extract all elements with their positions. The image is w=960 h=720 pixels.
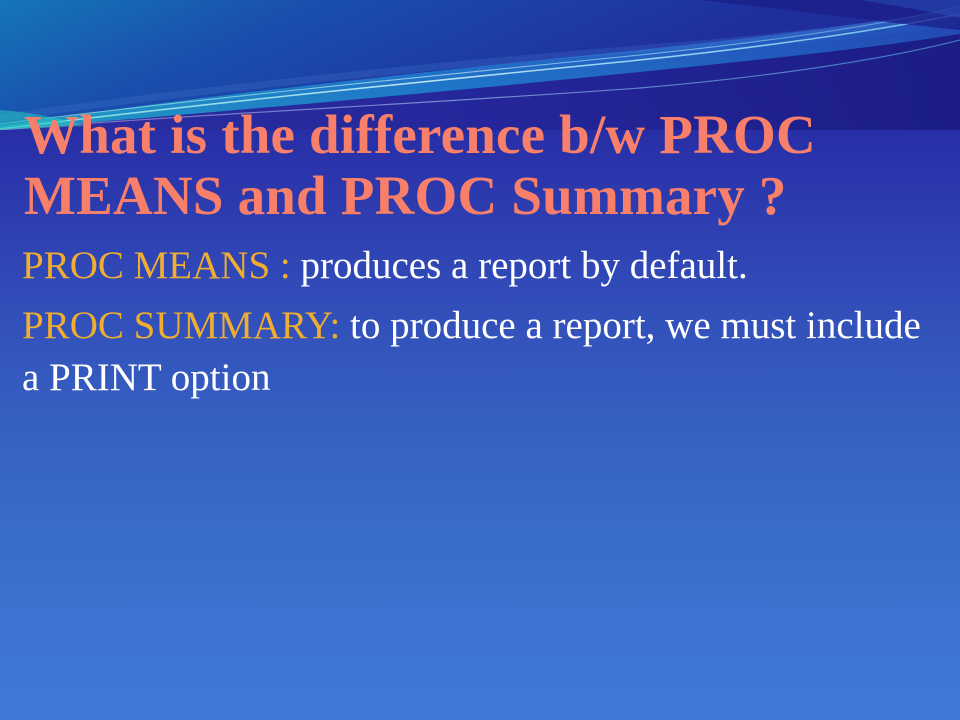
body-paragraph-1: PROC MEANS : produces a report by defaul…: [22, 240, 932, 292]
body-keyword-proc-summary: PROC SUMMARY:: [22, 304, 340, 347]
slide-body: PROC MEANS : produces a report by defaul…: [22, 240, 932, 404]
body-paragraph-2: PROC SUMMARY: to produce a report, we mu…: [22, 300, 932, 404]
slide-title-line-1: What is the difference b/w PROC: [24, 104, 924, 165]
slide-title: What is the difference b/w PROC MEANS an…: [24, 104, 924, 226]
slide-title-line-2: MEANS and PROC Summary ?: [24, 165, 924, 226]
wave-corner-ribbon-light: [860, 0, 960, 18]
wave-corner-ribbon: [700, 0, 960, 30]
slide-canvas: What is the difference b/w PROC MEANS an…: [0, 0, 960, 720]
body-keyword-proc-means: PROC MEANS :: [22, 244, 291, 287]
body-text-proc-means: produces a report by default.: [291, 244, 748, 287]
wave-soft-arc: [0, 12, 960, 118]
